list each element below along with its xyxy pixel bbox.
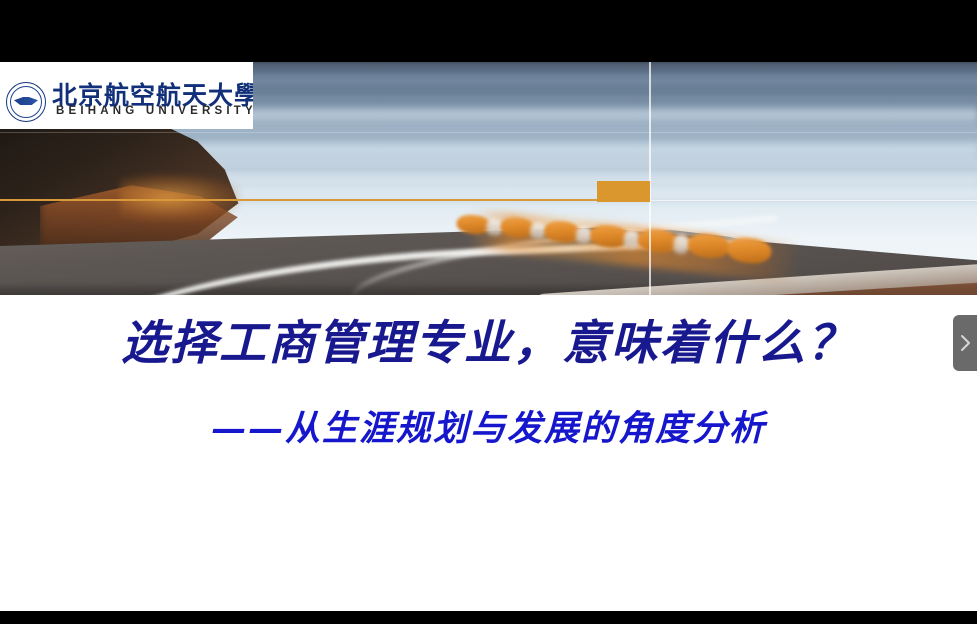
orange-accent-line xyxy=(0,199,650,201)
slideshow-screen: 北京航空航天大學 BEIHANG UNIVERSITY 选择工商管理专业，意味着… xyxy=(0,0,977,624)
university-logo-strip: 北京航空航天大學 BEIHANG UNIVERSITY xyxy=(0,62,253,129)
foliage-glow xyxy=(120,174,240,222)
next-slide-button[interactable] xyxy=(953,315,977,371)
beihang-seal-icon xyxy=(6,82,48,124)
university-name-en: BEIHANG UNIVERSITY xyxy=(56,105,253,117)
grid-line-horizontal-0 xyxy=(0,132,977,133)
orange-accent-block xyxy=(597,181,650,202)
slide-title: 选择工商管理专业，意味着什么？ xyxy=(0,304,977,373)
slide-surface[interactable]: 北京航空航天大學 BEIHANG UNIVERSITY 选择工商管理专业，意味着… xyxy=(0,62,977,611)
chevron-right-icon xyxy=(960,334,971,352)
slide-subtitle: ——从生涯规划与发展的角度分析 xyxy=(0,400,977,451)
letterbox-top xyxy=(0,0,977,62)
grid-line-vertical xyxy=(649,62,651,295)
letterbox-bottom xyxy=(0,611,977,624)
